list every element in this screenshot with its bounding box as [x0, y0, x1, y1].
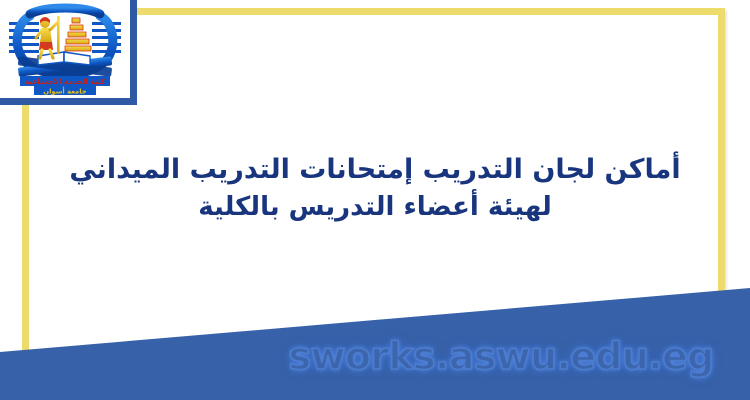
page-title: أماكن لجان التدريب إمتحانات التدريب المي… — [38, 150, 712, 227]
website-url-text: sworks.aswu.edu.eg — [289, 335, 714, 378]
faculty-logo-icon: كلية الخدمة الاجتماعية جامعة أسوان — [0, 0, 130, 98]
logo-university-name-plate: جامعة أسوان — [34, 86, 96, 95]
page-title-line-2: لهيئة أعضاء التدريس بالكلية — [38, 189, 712, 227]
svg-text:كلية الخدمة الاجتماعية: كلية الخدمة الاجتماعية — [25, 77, 106, 86]
logo-faculty-name-plate: كلية الخدمة الاجتماعية — [20, 76, 110, 86]
svg-text:جامعة أسوان: جامعة أسوان — [43, 86, 86, 95]
page-title-line-1: أماكن لجان التدريب إمتحانات التدريب المي… — [38, 150, 712, 189]
faculty-logo-box: كلية الخدمة الاجتماعية جامعة أسوان — [0, 0, 137, 105]
announcement-banner: sworks.aswu.edu.eg أماكن لجان التدريب إم… — [0, 0, 750, 400]
